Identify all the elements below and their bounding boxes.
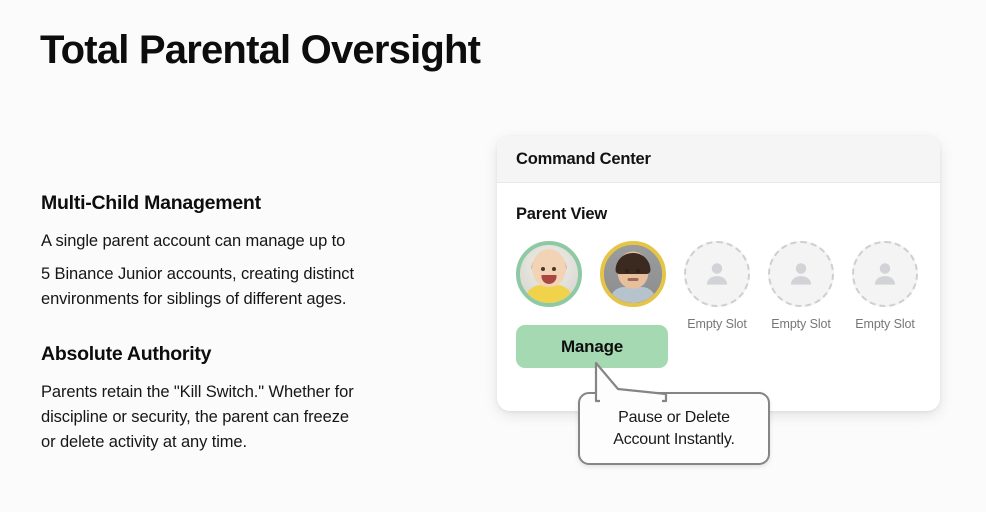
child-photo-icon <box>520 245 578 303</box>
avatar[interactable] <box>600 241 666 307</box>
feature-body-line: Parents retain the "Kill Switch." Whethe… <box>41 380 441 405</box>
slot-label: Empty Slot <box>771 317 830 331</box>
profile-slot-child-2[interactable] <box>600 241 666 317</box>
profile-slot-empty-1[interactable]: Empty Slot <box>684 241 750 331</box>
feature-heading: Multi-Child Management <box>41 192 441 215</box>
child-photo-icon <box>604 245 662 303</box>
profile-slot-empty-3[interactable]: Empty Slot <box>852 241 918 331</box>
person-icon <box>702 259 732 289</box>
feature-body: Parents retain the "Kill Switch." Whethe… <box>41 380 441 456</box>
person-icon <box>786 259 816 289</box>
feature-body-line: discipline or security, the parent can f… <box>41 405 441 430</box>
feature-block-multi-child: Multi-Child Management A single parent a… <box>41 192 441 313</box>
feature-block-absolute-authority: Absolute Authority Parents retain the "K… <box>41 343 441 456</box>
avatar-placeholder[interactable] <box>852 241 918 307</box>
avatar-placeholder[interactable] <box>684 241 750 307</box>
card-header: Command Center <box>497 136 940 183</box>
profile-slot-row: Empty Slot Empty Slot <box>516 241 921 331</box>
profile-slot-empty-2[interactable]: Empty Slot <box>768 241 834 331</box>
callout-tail-icon <box>592 361 672 401</box>
feature-body-line: 5 Binance Junior accounts, creating dist… <box>41 262 441 287</box>
section-label-parent-view: Parent View <box>516 205 921 224</box>
slot-label: Empty Slot <box>855 317 914 331</box>
page-title: Total Parental Oversight <box>40 27 480 73</box>
profile-slot-child-1[interactable] <box>516 241 582 317</box>
features-column: Multi-Child Management A single parent a… <box>41 192 441 455</box>
feature-body-line: or delete activity at any time. <box>41 430 441 455</box>
feature-body: A single parent account can manage up to… <box>41 229 441 313</box>
command-center-card: Command Center Parent View <box>497 136 940 411</box>
slot-label: Empty Slot <box>687 317 746 331</box>
callout-line-2: Account Instantly. <box>613 429 735 450</box>
feature-body-line: environments for siblings of different a… <box>41 287 441 312</box>
feature-body-line: A single parent account can manage up to <box>41 229 441 254</box>
person-icon <box>870 259 900 289</box>
card-header-title: Command Center <box>516 150 651 169</box>
feature-heading: Absolute Authority <box>41 343 441 366</box>
avatar-placeholder[interactable] <box>768 241 834 307</box>
avatar[interactable] <box>516 241 582 307</box>
card-body: Parent View <box>497 183 940 331</box>
callout-line-1: Pause or Delete <box>618 407 730 428</box>
